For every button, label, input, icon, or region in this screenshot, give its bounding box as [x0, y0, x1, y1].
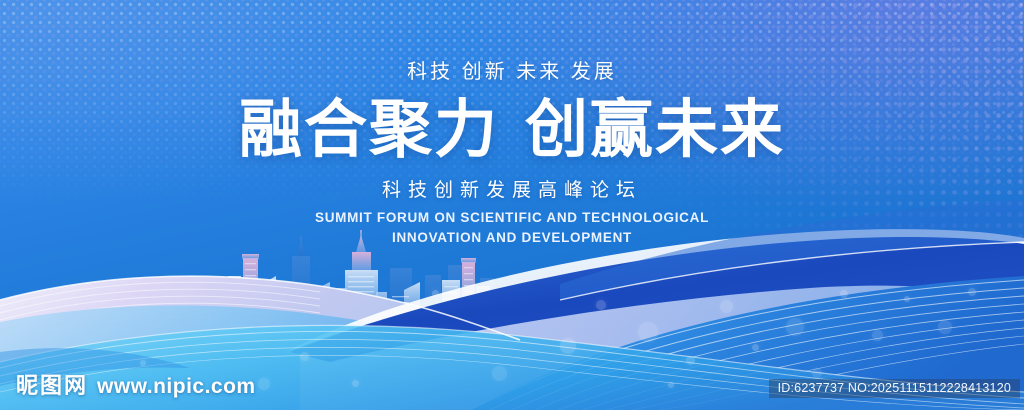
watermark-url: www.nipic.com — [97, 375, 256, 399]
subtitle-chinese: 科技创新发展高峰论坛 — [0, 175, 1024, 202]
title-right-phrase: 创赢未来 — [525, 95, 785, 165]
eyebrow-keywords: 科技 创新 未来 发展 — [0, 55, 1024, 84]
watermark: 昵图网 www.nipic.com — [16, 368, 256, 400]
page-title: 融合聚力创赢未来 — [0, 97, 1024, 163]
poster-banner: 科技 创新 未来 发展 融合聚力创赢未来 科技创新发展高峰论坛 SUMMIT F… — [0, 0, 1024, 410]
subtitle-english-line-2: INNOVATION AND DEVELOPMENT — [0, 228, 1024, 248]
asset-id-label: ID:6237737 NO:20251115112228413120 — [769, 379, 1020, 398]
poster-text-block: 科技 创新 未来 发展 融合聚力创赢未来 科技创新发展高峰论坛 SUMMIT F… — [0, 0, 1024, 248]
title-left-phrase: 融合聚力 — [239, 95, 499, 165]
subtitle-english-line-1: SUMMIT FORUM ON SCIENTIFIC AND TECHNOLOG… — [0, 208, 1024, 228]
watermark-brand: 昵图网 — [16, 368, 88, 400]
subtitle-english: SUMMIT FORUM ON SCIENTIFIC AND TECHNOLOG… — [0, 208, 1024, 248]
